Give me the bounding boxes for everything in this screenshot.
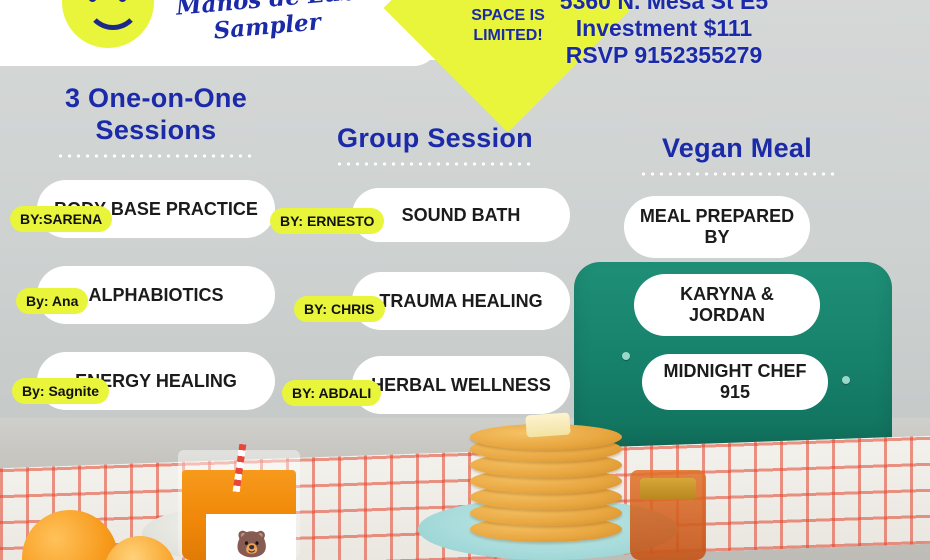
- presenter-tag: BY: CHRIS: [294, 296, 385, 322]
- presenter-tag: BY: ERNESTO: [270, 208, 384, 234]
- poster-canvas: 🐻 Manos de Luz Sampler SPACE IS LIMITED!…: [0, 0, 930, 560]
- meal-card[interactable]: MIDNIGHT CHEF 915: [642, 354, 828, 410]
- presenter-tag: BY:SARENA: [10, 206, 112, 232]
- presenter-tag: By: Ana: [16, 288, 88, 314]
- bear-logo-icon: 🐻: [234, 528, 270, 560]
- meal-label: MEAL PREPARED BY: [624, 206, 810, 248]
- divider-dots: [335, 162, 535, 166]
- meal-card[interactable]: KARYNA & JORDAN: [634, 274, 820, 336]
- column-group-session: Group Session SOUND BATH BY: ERNESTO TRA…: [300, 122, 570, 418]
- session-label: SOUND BATH: [392, 205, 531, 226]
- contact-investment: Investment $111: [494, 15, 834, 42]
- session-card[interactable]: TRAUMA HEALING: [352, 272, 570, 330]
- meal-card[interactable]: MEAL PREPARED BY: [624, 196, 810, 258]
- column-one-on-one: 3 One-on-One Sessions BODY BASE PRACTICE…: [8, 82, 304, 418]
- session-label: ALPHABIOTICS: [79, 285, 234, 306]
- presenter-tag: By: Sagnite: [12, 378, 109, 404]
- contact-rsvp[interactable]: RSVP 9152355279: [494, 42, 834, 69]
- meal-label: MIDNIGHT CHEF 915: [642, 361, 828, 403]
- session-label: HERBAL WELLNESS: [361, 375, 561, 396]
- column-title: Vegan Meal: [612, 132, 862, 164]
- contact-address: 5360 N. Mesa St E5: [494, 0, 834, 15]
- session-label: TRAUMA HEALING: [369, 291, 552, 312]
- syrup-bottle-cap: [640, 478, 696, 500]
- column-title: 3 One-on-One Sessions: [8, 82, 304, 146]
- presenter-tag: BY: ABDALI: [282, 380, 381, 406]
- divider-dots: [639, 172, 835, 176]
- session-card[interactable]: SOUND BATH: [352, 188, 570, 242]
- divider-dots: [56, 154, 256, 158]
- column-title: Group Session: [300, 122, 570, 154]
- meal-label: KARYNA & JORDAN: [634, 284, 820, 326]
- session-card[interactable]: HERBAL WELLNESS: [352, 356, 570, 414]
- column-vegan-meal: Vegan Meal MEAL PREPARED BY KARYNA & JOR…: [612, 132, 862, 410]
- pancake-stack: [470, 424, 622, 540]
- contact-block: 5360 N. Mesa St E5 Investment $111 RSVP …: [494, 0, 834, 69]
